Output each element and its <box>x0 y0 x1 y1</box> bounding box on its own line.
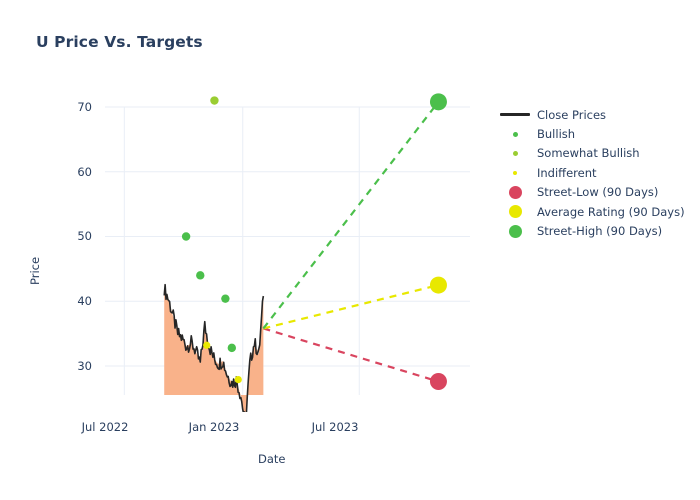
legend-label: Somewhat Bullish <box>533 146 640 160</box>
scatter-point <box>203 342 210 349</box>
y-tick-label: 60 <box>52 165 92 179</box>
x-tick-label: Jul 2022 <box>63 420 147 434</box>
legend-item-average-rating[interactable]: Average Rating (90 Days) <box>497 202 697 221</box>
close-prices-area <box>164 288 263 412</box>
legend-label: Street-Low (90 Days) <box>533 185 658 199</box>
scatter-point <box>182 232 190 240</box>
target-line <box>263 102 438 329</box>
x-tick-label: Jan 2023 <box>172 420 256 434</box>
target-endpoint-marker <box>430 277 447 294</box>
legend-label: Street-High (90 Days) <box>533 224 662 238</box>
legend-line-swatch <box>497 113 533 116</box>
y-tick-label: 40 <box>52 294 92 308</box>
plot-area <box>105 60 470 412</box>
x-axis-title: Date <box>258 452 700 466</box>
legend-dot-swatch <box>497 225 533 238</box>
y-tick-label: 70 <box>52 100 92 114</box>
legend-label: Bullish <box>533 127 575 141</box>
legend-item-bullish[interactable]: Bullish <box>497 124 697 143</box>
target-endpoint-marker <box>430 93 447 110</box>
target-line <box>263 285 438 328</box>
chart-title: U Price Vs. Targets <box>36 33 203 51</box>
legend-dot-swatch <box>497 151 533 156</box>
legend-dot-swatch <box>497 171 533 175</box>
legend-dot-swatch <box>497 205 533 218</box>
legend-item-street-high[interactable]: Street-High (90 Days) <box>497 221 697 240</box>
y-axis-title: Price <box>28 257 42 285</box>
legend-item-street-low[interactable]: Street-Low (90 Days) <box>497 183 697 202</box>
y-tick-label: 30 <box>52 359 92 373</box>
y-tick-label: 50 <box>52 229 92 243</box>
chart-legend: Close Prices Bullish Somewhat Bullish In… <box>497 105 697 241</box>
x-tick-label: Jul 2023 <box>293 420 377 434</box>
plot-svg <box>105 60 470 412</box>
chart-root: U Price Vs. Targets Price 70 60 50 40 30… <box>0 0 700 500</box>
legend-label: Average Rating (90 Days) <box>533 205 685 219</box>
legend-dot-swatch <box>497 132 533 137</box>
target-line <box>263 328 438 381</box>
target-endpoint-marker <box>430 373 447 390</box>
scatter-point <box>221 294 229 302</box>
scatter-point <box>196 271 204 279</box>
scatter-point <box>228 344 236 352</box>
legend-label: Indifferent <box>533 166 597 180</box>
legend-item-close-prices[interactable]: Close Prices <box>497 105 697 124</box>
legend-dot-swatch <box>497 186 533 199</box>
legend-item-indifferent[interactable]: Indifferent <box>497 163 697 182</box>
scatter-point <box>210 96 218 104</box>
legend-item-somewhat-bullish[interactable]: Somewhat Bullish <box>497 144 697 163</box>
legend-label: Close Prices <box>533 108 606 122</box>
scatter-point <box>235 376 242 383</box>
